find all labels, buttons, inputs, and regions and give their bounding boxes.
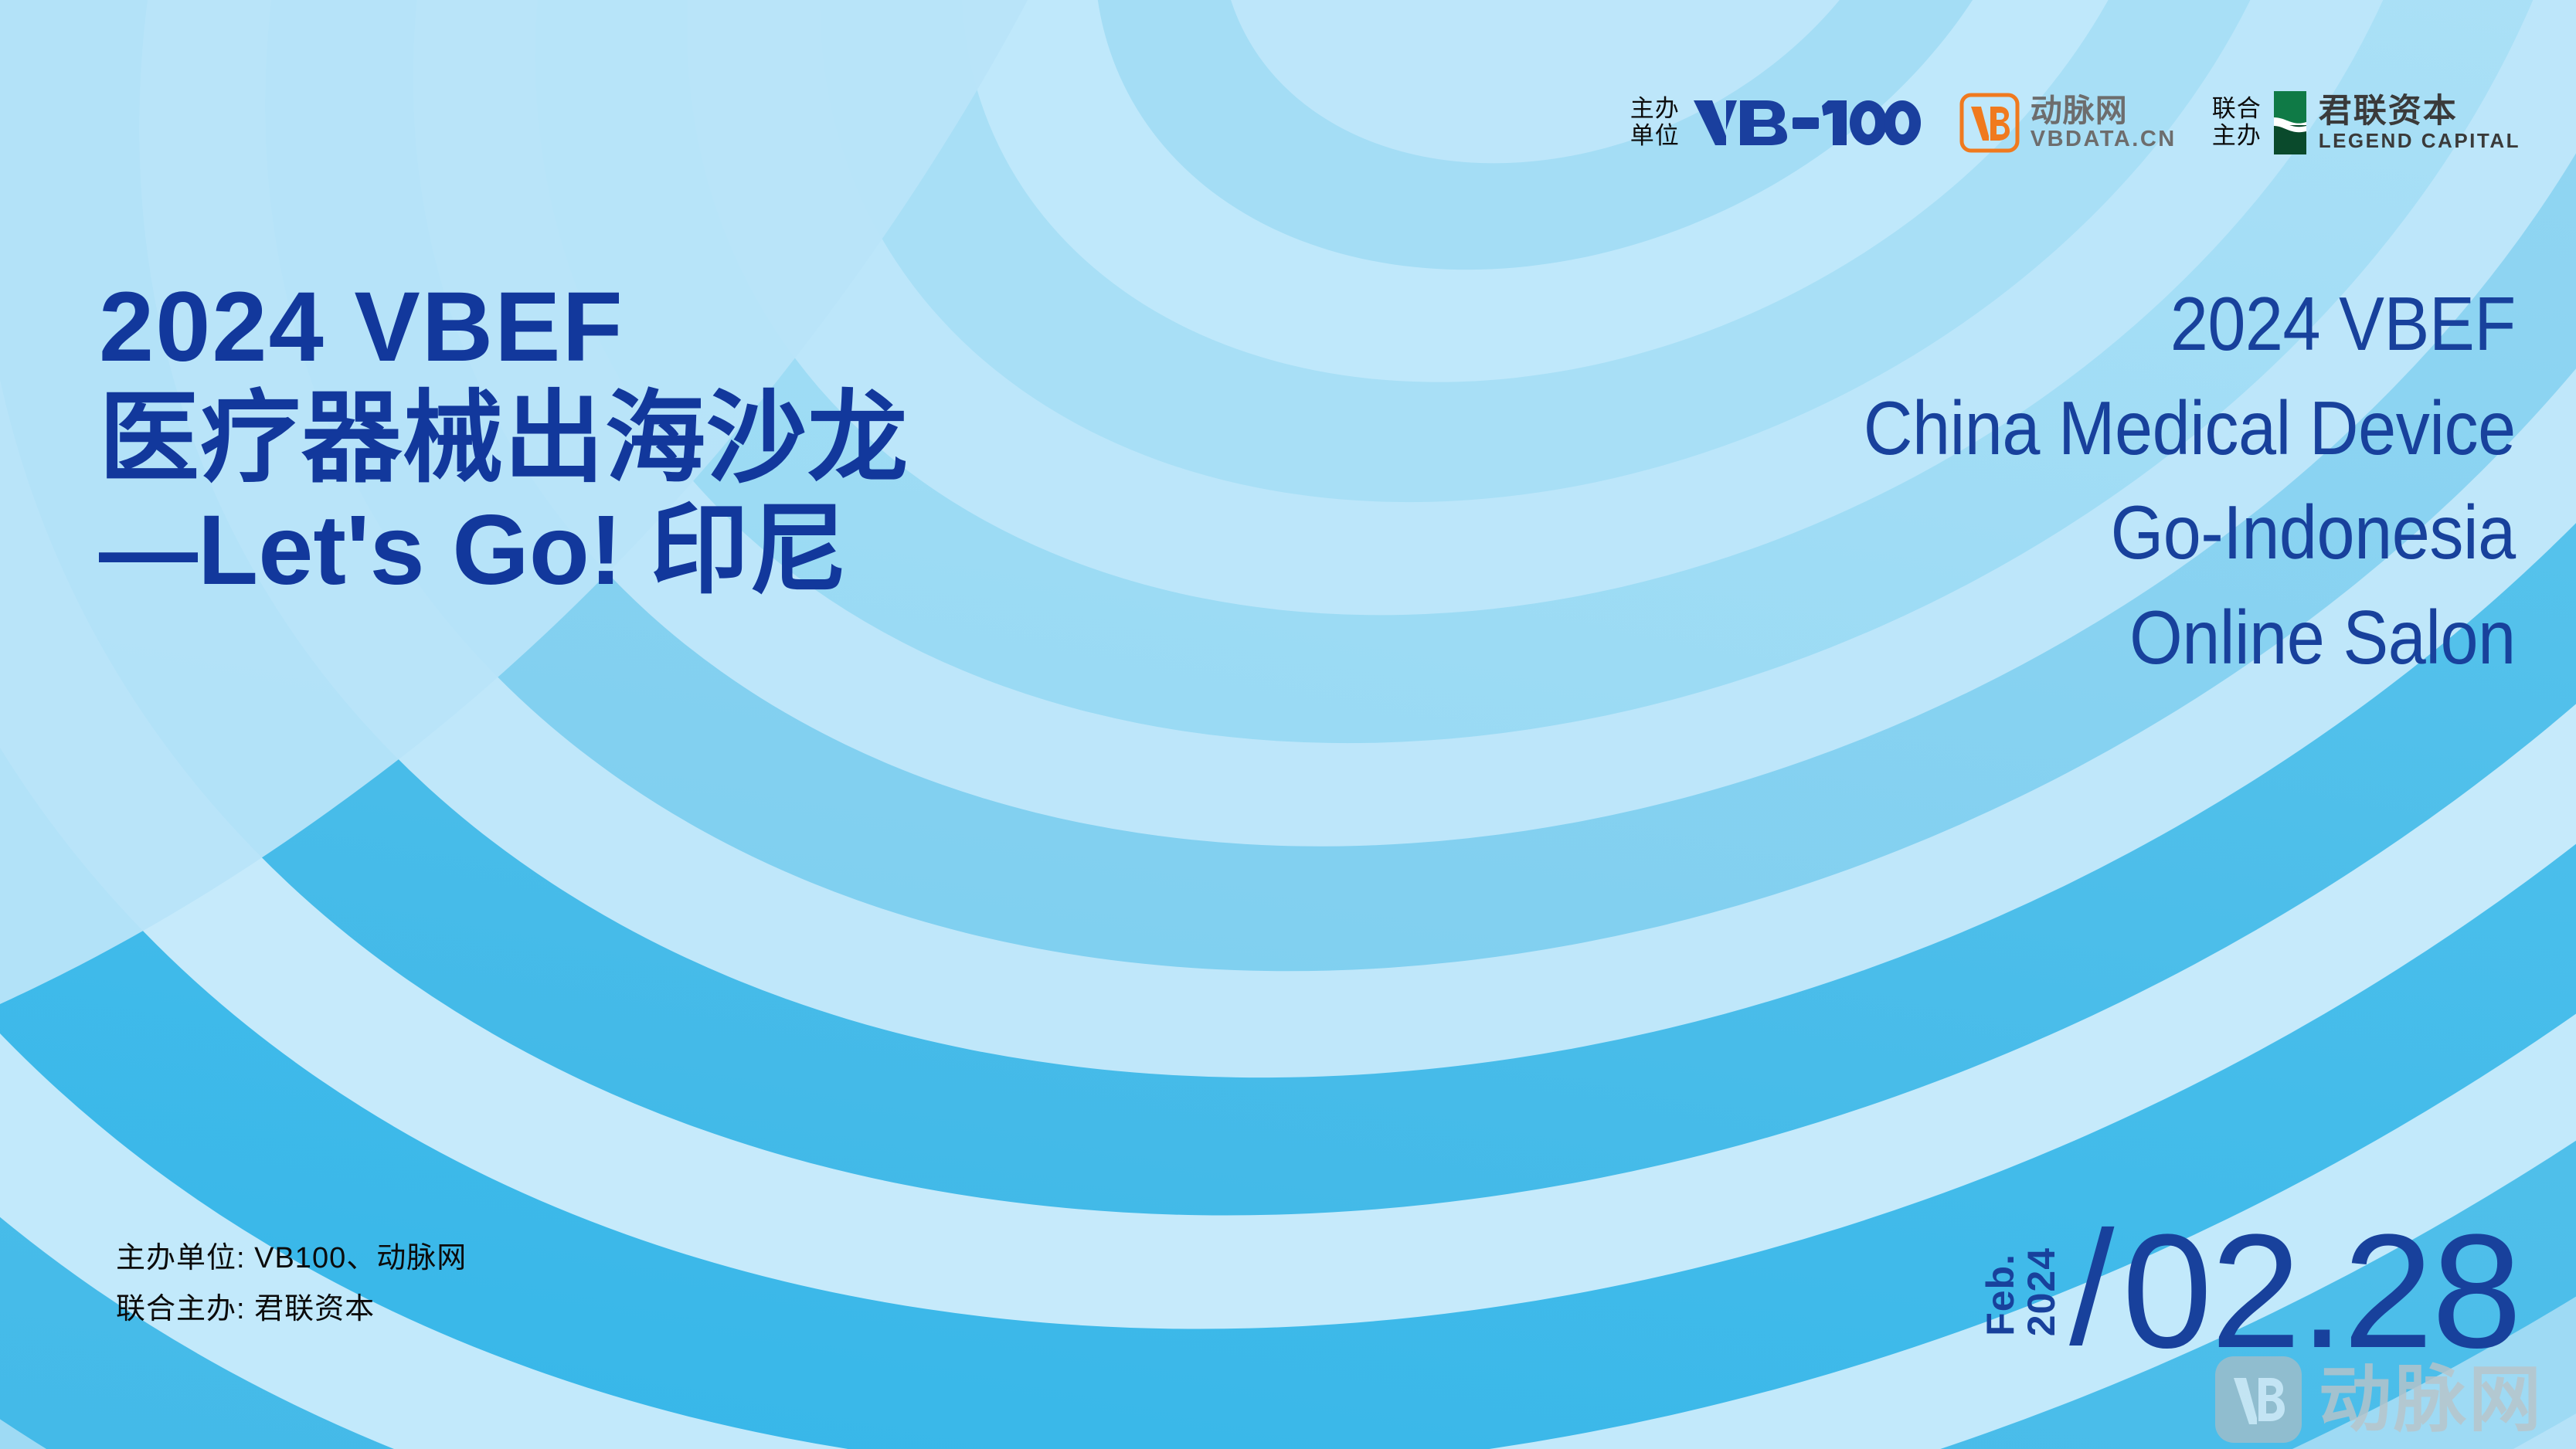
watermark-vb-icon [2215,1356,2302,1443]
vbdata-cn-name: 动脉网 [2031,95,2177,127]
legend-cn-name: 君联资本 [2319,95,2520,128]
vbdata-latin-name: VBDATA.CN [2031,128,2177,151]
sponsor-role-organizer: 主办 单位 [1630,96,1680,149]
sponsor-bar: 主办 单位 [1630,91,2520,154]
credit-cohost: 联合主办: 君联资本 [116,1284,467,1335]
date-month-year: Feb. 2024 [1980,1247,2061,1336]
date-month: Feb. [1980,1254,2021,1336]
credits-block: 主办单位: VB100、动脉网 联合主办: 君联资本 [116,1234,467,1335]
legend-text-block: 君联资本 LEGEND CAPITAL [2319,95,2520,151]
english-line-4: Online Salon [1864,585,2516,690]
vbdata-mark-icon [1959,93,2020,153]
poster-canvas: 主办 单位 [0,0,2576,1449]
sponsor-vb100[interactable]: 主办 单位 [1630,96,1924,150]
legend-capital-mark-icon [2274,91,2306,154]
date-day: 02.28 [2122,1225,2520,1358]
headline-line-3: —Let's Go! 印尼 [99,495,909,606]
english-line-1: 2024 VBEF [1864,272,2516,376]
event-date-block: Feb. 2024 / 02.28 [1980,1223,2520,1358]
english-line-3: Go-Indonesia [1864,480,2516,585]
sponsor-role-cohost: 联合 主办 [2212,96,2262,149]
headline-line-2: 医疗器械出海沙龙 [99,382,909,495]
watermark: 动脉网 [2215,1356,2544,1443]
sponsor-legend-capital[interactable]: 联合 主办 君联资本 LEGEND CAPITAL [2212,91,2520,154]
credit-organizer: 主办单位: VB100、动脉网 [116,1234,467,1284]
main-headline: 2024 VBEF 医疗器械出海沙龙 —Let's Go! 印尼 [99,272,909,606]
legend-latin-name: LEGEND CAPITAL [2319,131,2520,151]
date-separator: / [2069,1223,2114,1353]
headline-line-1: 2024 VBEF [99,272,909,382]
vb100-logo [1692,96,1924,150]
watermark-text: 动脉网 [2319,1363,2544,1436]
english-title-block: 2024 VBEF China Medical Device Go-Indone… [1791,272,2516,690]
date-year: 2024 [2021,1247,2062,1336]
sponsor-vbdata[interactable]: 动脉网 VBDATA.CN [1959,93,2177,153]
english-line-2: China Medical Device [1864,376,2516,480]
vbdata-text-block: 动脉网 VBDATA.CN [2031,95,2177,151]
